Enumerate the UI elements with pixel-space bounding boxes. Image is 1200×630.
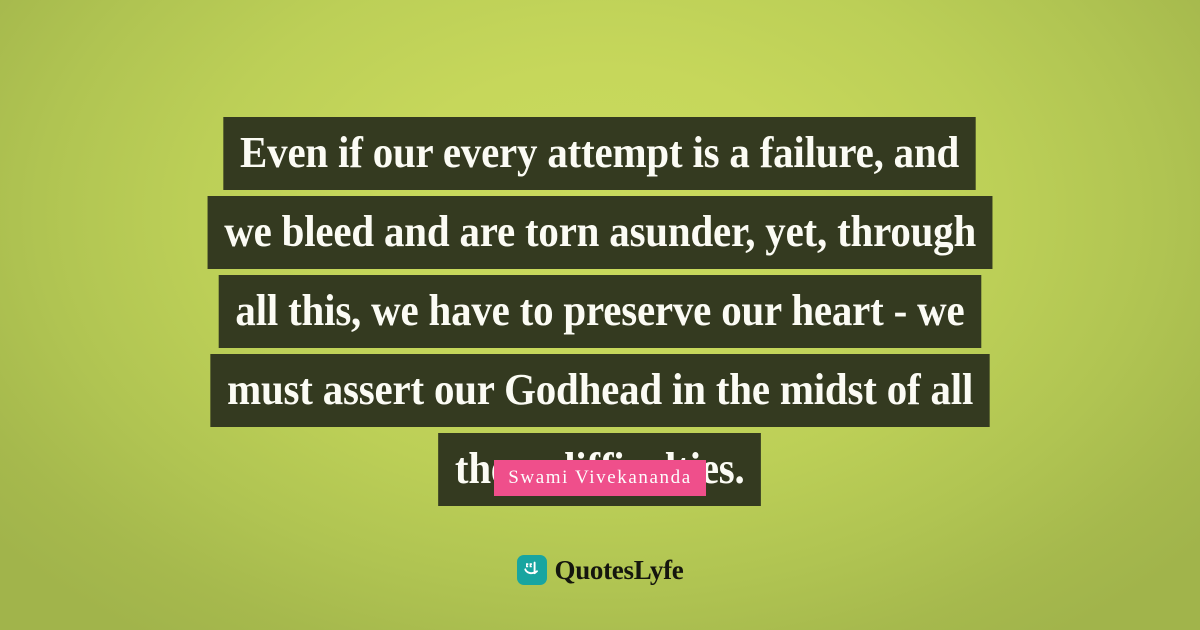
quote-line: all this, we have to preserve our heart … (219, 275, 981, 348)
quote-line: we bleed and are torn asunder, yet, thro… (207, 196, 992, 269)
brand-name: QuotesLyfe (555, 557, 684, 584)
author-attribution: Swami Vivekananda (0, 460, 1200, 496)
brand-logo[interactable]: QuotesLyfe (0, 555, 1200, 585)
quote-line: must assert our Godhead in the midst of … (210, 354, 990, 427)
quotes-smiley-icon (517, 555, 547, 585)
quote-line: Even if our every attempt is a failure, … (224, 117, 977, 190)
author-name-badge: Swami Vivekananda (494, 460, 705, 496)
quote-poster: Even if our every attempt is a failure, … (0, 0, 1200, 630)
quote-text-block: Even if our every attempt is a failure, … (0, 117, 1200, 512)
